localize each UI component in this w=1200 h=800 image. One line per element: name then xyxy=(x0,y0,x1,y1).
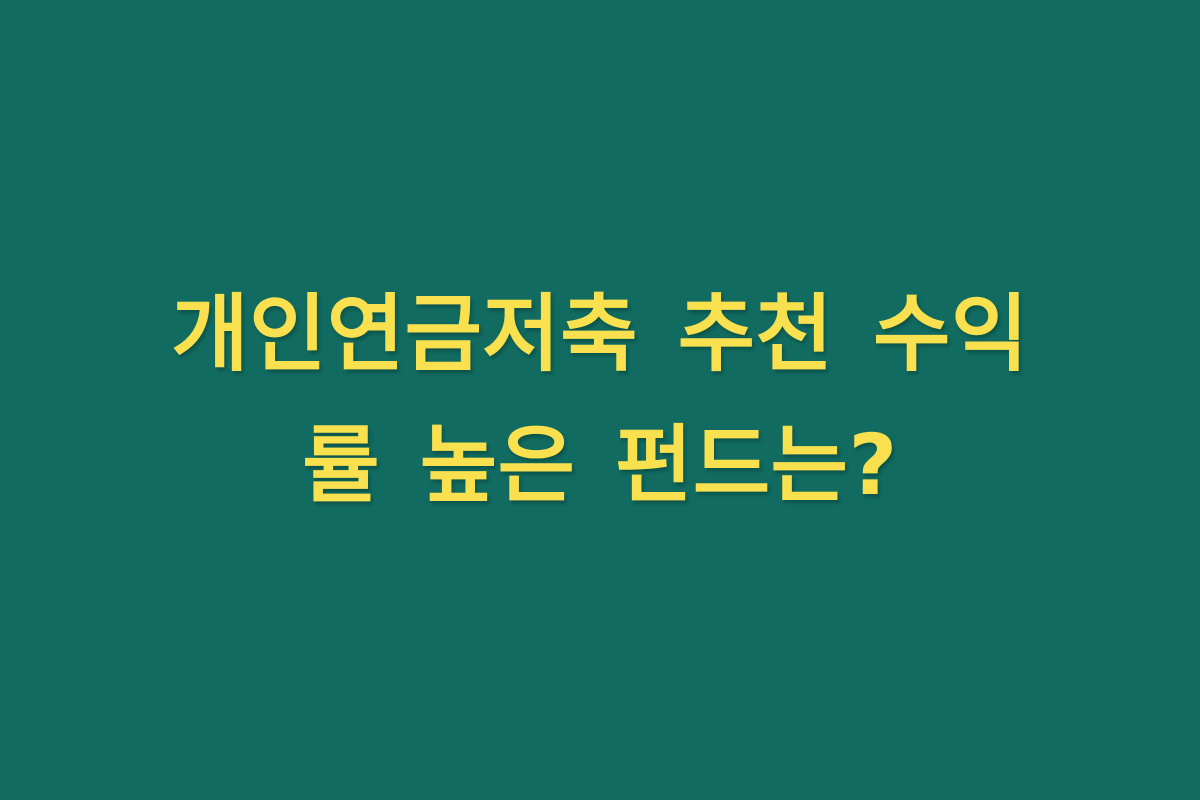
headline-line-1: 개인연금저축 추천 수익 xyxy=(95,269,1105,400)
page-title: 개인연금저축 추천 수익 률 높은 펀드는? xyxy=(95,269,1105,531)
headline-line-2: 률 높은 펀드는? xyxy=(95,400,1105,531)
promo-banner: 개인연금저축 추천 수익 률 높은 펀드는? xyxy=(0,0,1200,800)
